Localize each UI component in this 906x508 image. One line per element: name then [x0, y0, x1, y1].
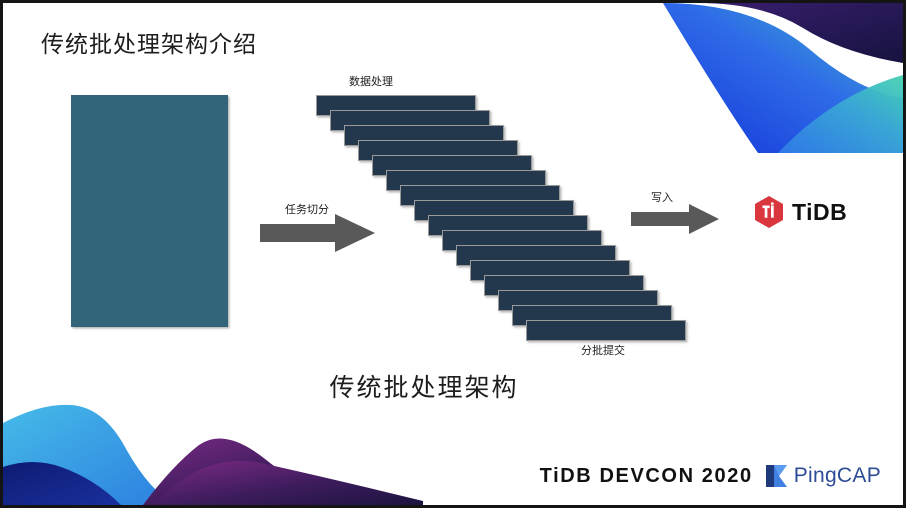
footer-event-name: TiDB DEVCON 2020: [540, 465, 753, 488]
label-batch-commit: 分批提交: [581, 342, 625, 358]
diagram-caption: 传统批处理架构: [3, 368, 906, 404]
tidb-hexagon-icon: [753, 195, 785, 229]
pingcap-mark-icon: [765, 463, 789, 489]
batch-task-box: [526, 320, 686, 341]
label-write: 写入: [651, 189, 673, 205]
tidb-logo: TiDB: [753, 195, 847, 229]
diagram-caption-text: 传统批处理架构: [329, 373, 518, 402]
presentation-slide: 传统批处理架构介绍 任务切分 数据处理 分批提交 写入 TiDB 传统批处理架构…: [0, 0, 906, 508]
slide-footer: TiDB DEVCON 2020 PingCAP: [540, 463, 881, 489]
batch-task-stack: [3, 3, 906, 508]
arrow-write: [631, 204, 719, 234]
pingcap-wordmark: PingCAP: [794, 464, 881, 488]
pingcap-logo: PingCAP: [765, 463, 881, 489]
tidb-wordmark: TiDB: [792, 199, 847, 226]
